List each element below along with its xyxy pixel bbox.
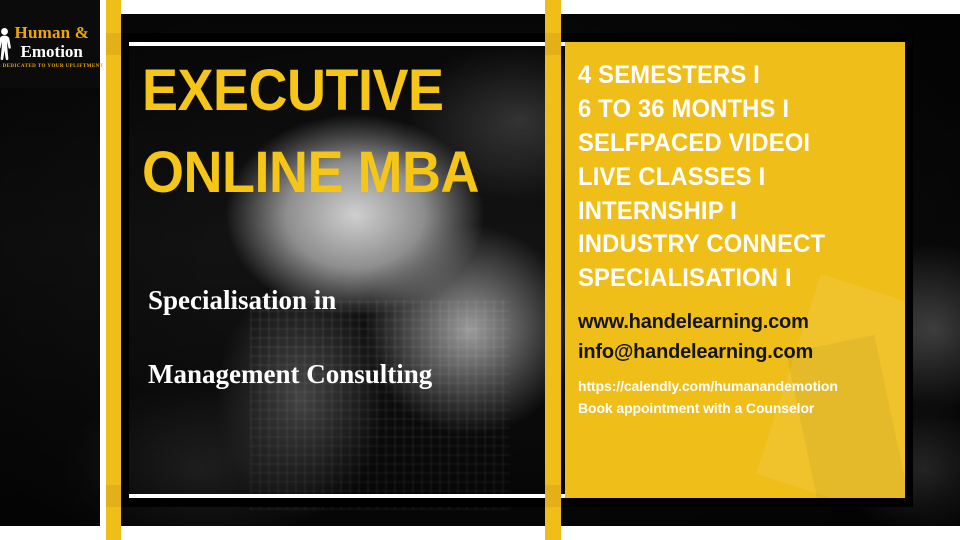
frame-band-bottom — [0, 526, 960, 540]
feature-item: 6 TO 36 MONTHS I — [578, 93, 889, 127]
headline-line-2: ONLINE MBA — [142, 144, 514, 202]
hero-headline: EXECUTIVE ONLINE MBA — [142, 62, 542, 202]
headline-line-1: EXECUTIVE — [142, 62, 514, 120]
hero-subheadline: Specialisation in Management Consulting — [148, 286, 548, 389]
subheadline-line-1: Specialisation in — [148, 286, 548, 316]
accent-bar-middle-notch-top — [545, 33, 561, 55]
accent-bar-left-notch-bottom — [106, 485, 121, 507]
feature-item: SELFPACED VIDEOI — [578, 127, 889, 161]
brand-tagline: DEDICATED TO YOUR UPLIFTMENT — [3, 64, 104, 69]
subheadline-line-2: Management Consulting — [148, 360, 548, 390]
brand-name-line1: Human & — [15, 24, 104, 41]
email-link[interactable]: info@handelearning.com — [578, 338, 905, 368]
feature-item: 4 SEMESTERS I — [578, 59, 889, 93]
accent-bar-middle — [545, 0, 561, 540]
feature-item: SPECIALISATION I — [578, 262, 889, 296]
website-link[interactable]: www.handelearning.com — [578, 308, 905, 338]
promotional-banner: Human & Emotion DEDICATED TO YOUR UPLIFT… — [0, 0, 960, 540]
brand-name-line2: Emotion — [21, 43, 104, 60]
booking-link[interactable]: https://calendly.com/humanandemotion — [578, 376, 905, 397]
feature-item: INTERNSHIP I — [578, 195, 889, 229]
accent-bar-left-notch-top — [106, 33, 121, 55]
feature-item: INDUSTRY CONNECT — [578, 228, 889, 262]
human-figure-icon — [0, 27, 12, 69]
booking-label: Book appointment with a Counselor — [578, 398, 905, 419]
accent-bar-left — [106, 0, 121, 540]
features-panel: 4 SEMESTERS I 6 TO 36 MONTHS I SELFPACED… — [565, 42, 905, 498]
frame-band-top — [0, 0, 960, 14]
brand-logo[interactable]: Human & Emotion DEDICATED TO YOUR UPLIFT… — [0, 0, 100, 88]
feature-item: LIVE CLASSES I — [578, 161, 889, 195]
accent-bar-middle-notch-bottom — [545, 485, 561, 507]
